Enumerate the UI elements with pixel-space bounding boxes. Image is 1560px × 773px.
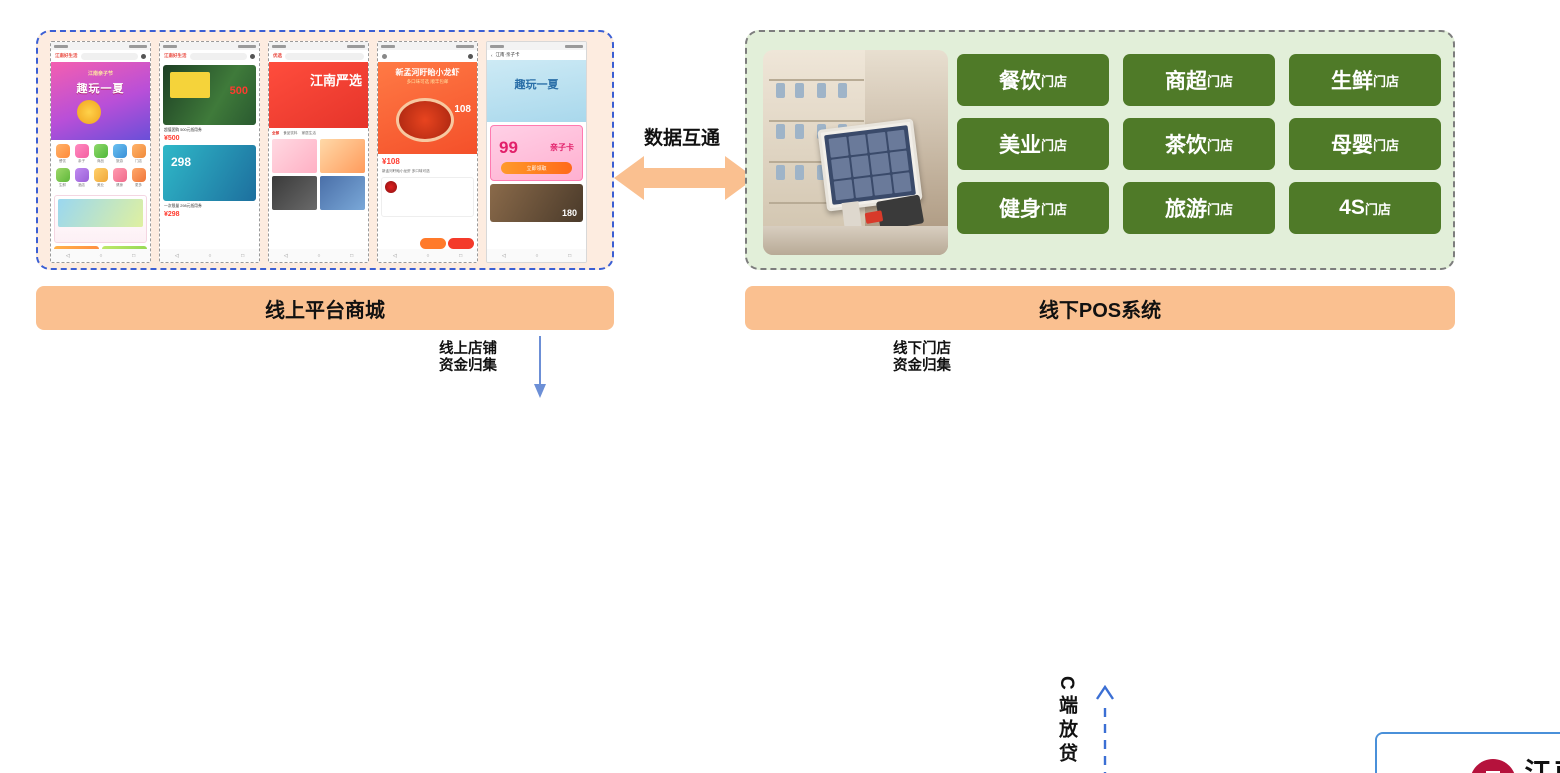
phone-mockup-group: 江南好生活 江南亲子节 趣玩一夏 餐饮 亲子 商品 旅游 门店	[50, 41, 587, 263]
category-card[interactable]: 生鲜门店	[1289, 54, 1441, 106]
phone-search-bar[interactable]: 优选	[269, 50, 368, 62]
phone-nav-bar-top[interactable]: ‹ 江南·亲子卡	[487, 50, 586, 60]
category-card[interactable]: 4S门店	[1289, 182, 1441, 234]
hero-banner: 趣玩一夏	[487, 60, 586, 122]
category-suffix: 门店	[1207, 71, 1233, 90]
data-interop-label: 数据互通	[622, 123, 742, 150]
bank-name-block: 江南银行 JIANGNAN BANK	[1525, 760, 1560, 773]
phone-nav-bar[interactable]: ◁○□	[378, 249, 477, 262]
category-name: 旅游	[1165, 193, 1207, 223]
hero-banner: 江南严选	[269, 62, 368, 128]
category-suffix: 门店	[1041, 71, 1067, 90]
product-badge: 108	[454, 104, 471, 115]
category-card[interactable]: 商超门店	[1123, 54, 1275, 106]
card-name: 亲子卡	[550, 142, 574, 153]
cash-management-platform-card: 江南银行 JIANGNAN BANK 现金管理平台 商业银行私域数字化中台	[1375, 732, 1560, 773]
phone-mockup-product[interactable]: 新孟河盱眙小龙虾 多口味可选 顺丰包邮 108 ¥108 新孟河盱眙小龙虾 多口…	[377, 41, 478, 263]
phone-nav-bar[interactable]: ◁○□	[160, 249, 259, 262]
hero-subtitle: 江南亲子节	[51, 70, 150, 77]
venue-image	[490, 184, 583, 222]
app-brand-label: 优选	[273, 53, 282, 59]
hero-banner: 新孟河盱眙小龙虾 多口味可选 顺丰包邮 108	[378, 62, 477, 154]
offline-funds-line2: 资金归集	[893, 358, 951, 375]
promo-description: 一次限量 298元抵用券	[164, 204, 255, 209]
jiangnan-bank-logo-icon	[1470, 759, 1516, 773]
category-card[interactable]: 餐饮门店	[957, 54, 1109, 106]
hero-title: 趣玩一夏	[51, 80, 150, 96]
phone-status-bar	[269, 42, 368, 50]
category-suffix: 门店	[1041, 199, 1067, 218]
pos-screen	[824, 125, 916, 205]
category-name: 健身	[999, 193, 1041, 223]
offline-funds-line1: 线下门店	[893, 341, 951, 358]
category-card[interactable]: 茶饮门店	[1123, 118, 1275, 170]
category-name: 餐饮	[999, 65, 1041, 95]
card-price: 99	[499, 138, 518, 158]
phone-mockup-home[interactable]: 江南好生活 江南亲子节 趣玩一夏 餐饮 亲子 商品 旅游 门店	[50, 41, 151, 263]
page-title: 江南·亲子卡	[496, 52, 520, 58]
category-suffix: 门店	[1207, 135, 1233, 154]
category-name: 生鲜	[1331, 65, 1373, 95]
bank-name-cn: 江南银行	[1525, 760, 1560, 773]
phone-content: 趣玩一夏 99 亲子卡 立即领取	[487, 60, 586, 249]
category-icon-grid: 餐饮 亲子 商品 旅游 门店 生鲜 酒店 美业 健身 更多	[51, 140, 150, 192]
store-category-grid: 餐饮门店 商超门店 生鲜门店 美业门店 茶饮门店 母婴门店 健身门店 旅游门店	[957, 54, 1441, 234]
hero-title: 江南严选	[310, 74, 362, 88]
phone-mockup-promo[interactable]: 江南好生活 超值团购 500元抵用券 ¥500 一次限量 298元抵用券 ¥29…	[159, 41, 260, 263]
app-brand-label: 江南好生活	[55, 53, 78, 59]
category-suffix: 门店	[1365, 199, 1391, 218]
c-side-loan-label: C端放贷	[1057, 676, 1076, 767]
phone-nav-bar-top[interactable]	[378, 50, 477, 62]
bank-logo: 江南银行 JIANGNAN BANK	[1470, 759, 1560, 773]
phone-search-bar[interactable]: 江南好生活	[160, 50, 259, 62]
online-funds-label: 线上店铺 资金归集	[439, 341, 497, 376]
back-icon[interactable]	[382, 54, 387, 59]
settings-icon[interactable]	[141, 54, 146, 59]
banner-product[interactable]	[163, 145, 256, 201]
category-suffix: 门店	[1373, 135, 1399, 154]
product-grid[interactable]	[269, 139, 368, 210]
banner-voucher[interactable]	[163, 65, 256, 125]
search-input[interactable]	[285, 53, 364, 60]
phone-mockup-family-card[interactable]: ‹ 江南·亲子卡 趣玩一夏 99 亲子卡 立即领取 ◁○□	[486, 41, 587, 263]
category-name: 商超	[1165, 65, 1207, 95]
category-name: 4S	[1339, 196, 1365, 220]
settings-icon[interactable]	[250, 54, 255, 59]
offline-pos-header: 线下POS系统	[745, 286, 1455, 330]
c-side-loan-route	[1089, 685, 1389, 773]
phone-status-bar	[487, 42, 586, 50]
category-card[interactable]: 健身门店	[957, 182, 1109, 234]
online-platform-panel: 江南好生活 江南亲子节 趣玩一夏 餐饮 亲子 商品 旅游 门店	[36, 30, 614, 270]
phone-content: 江南严选 全部食品饮料家居生活	[269, 62, 368, 249]
promo-card[interactable]	[54, 195, 147, 243]
data-interop-arrow	[614, 152, 755, 204]
platform-header: 江南银行 JIANGNAN BANK 现金管理平台	[1377, 734, 1560, 773]
online-platform-header: 线上平台商城	[36, 286, 614, 330]
phone-content: 新孟河盱眙小龙虾 多口味可选 顺丰包邮 108 ¥108 新孟河盱眙小龙虾 多口…	[378, 62, 477, 249]
category-name: 母婴	[1331, 129, 1373, 159]
phone-nav-bar[interactable]: ◁○□	[51, 249, 150, 262]
phone-nav-bar[interactable]: ◁○□	[269, 249, 368, 262]
back-icon[interactable]: ‹	[491, 53, 493, 58]
offline-pos-panel: 餐饮门店 商超门店 生鲜门店 美业门店 茶饮门店 母婴门店 健身门店 旅游门店	[745, 30, 1455, 270]
pos-terminal-photo	[763, 50, 948, 255]
product-desc: 新孟河盱眙小龙虾 多口味可选	[382, 169, 473, 174]
category-card[interactable]: 母婴门店	[1289, 118, 1441, 170]
store-counter	[763, 226, 948, 255]
category-suffix: 门店	[1041, 135, 1067, 154]
product-image	[396, 98, 454, 142]
category-tabs[interactable]: 全部食品饮料家居生活	[269, 128, 368, 139]
phone-nav-bar[interactable]: ◁○□	[487, 249, 586, 262]
shop-card[interactable]	[381, 177, 474, 217]
phone-content: 超值团购 500元抵用券 ¥500 一次限量 298元抵用券 ¥298	[160, 62, 259, 249]
offline-funds-label: 线下门店 资金归集 C端放贷 B端放贷	[893, 341, 951, 376]
phone-mockup-selection[interactable]: 优选 江南严选 全部食品饮料家居生活 ◁○□	[268, 41, 369, 263]
category-name: 茶饮	[1165, 129, 1207, 159]
family-card-offer[interactable]: 99 亲子卡 立即领取	[490, 125, 583, 181]
hero-title: 趣玩一夏	[487, 76, 586, 92]
promo-price: ¥500	[164, 135, 255, 142]
category-suffix: 门店	[1207, 199, 1233, 218]
online-funds-arrow	[533, 336, 547, 398]
purchase-action-bar[interactable]	[381, 238, 474, 249]
phone-status-bar	[160, 42, 259, 50]
product-price: ¥108	[382, 157, 473, 166]
search-input[interactable]	[81, 53, 139, 60]
category-card[interactable]: 美业门店	[957, 118, 1109, 170]
settings-icon[interactable]	[468, 54, 473, 59]
claim-button[interactable]: 立即领取	[501, 162, 572, 174]
phone-status-bar	[51, 42, 150, 50]
online-funds-line2: 资金归集	[439, 358, 497, 375]
promo-price: ¥298	[164, 211, 255, 218]
category-suffix: 门店	[1373, 71, 1399, 90]
product-subtitle: 多口味可选 顺丰包邮	[378, 79, 477, 85]
diagram-canvas: 江南好生活 江南亲子节 趣玩一夏 餐饮 亲子 商品 旅游 门店	[0, 0, 1560, 773]
search-input[interactable]	[190, 53, 248, 60]
product-title: 新孟河盱眙小龙虾	[378, 67, 477, 78]
category-name: 美业	[999, 129, 1041, 159]
c-side-loan-group: C端放贷	[1057, 676, 1076, 767]
category-card[interactable]: 旅游门店	[1123, 182, 1275, 234]
online-funds-line1: 线上店铺	[439, 341, 497, 358]
phone-search-bar[interactable]: 江南好生活	[51, 50, 150, 62]
app-brand-label: 江南好生活	[164, 53, 187, 59]
promo-description: 超值团购 500元抵用券	[164, 128, 255, 133]
hero-banner: 江南亲子节 趣玩一夏	[51, 62, 150, 140]
phone-status-bar	[378, 42, 477, 50]
phone-content: 江南亲子节 趣玩一夏 餐饮 亲子 商品 旅游 门店 生鲜 酒店 美业 健身 更多	[51, 62, 150, 249]
